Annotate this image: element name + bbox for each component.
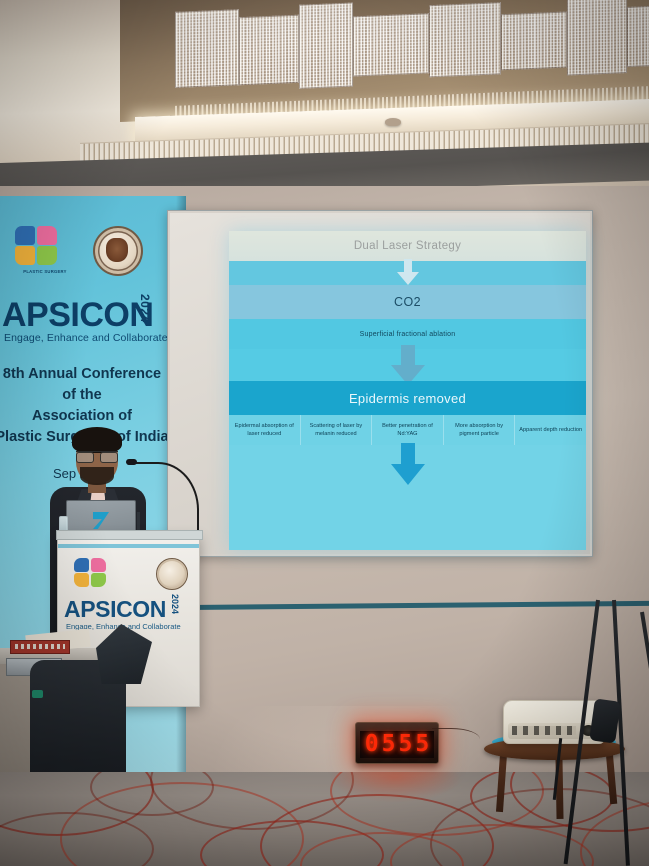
glasses-icon: [76, 451, 118, 461]
podium-association-seal-icon: [156, 558, 188, 590]
slide-outcome-column: Apparent depth reduction: [515, 415, 586, 445]
conference-hall-photo: PLASTIC SURGERY APSICON 2024 Engage, Enh…: [0, 0, 649, 866]
timer-digit: 5: [415, 733, 429, 756]
banner-title: APSICON: [2, 296, 186, 335]
slide-superficial-label: Superficial fractional ablation: [360, 331, 456, 338]
slide-outcome-column: Better penetration of Nd:YAG: [372, 415, 444, 445]
chandelier-crystal-panel: [501, 12, 567, 71]
banner-subtitle-line: Association of: [0, 406, 182, 427]
projection-screen: Dual Laser Strategy CO2 Superficial frac…: [167, 210, 593, 557]
banner-year: 2024: [138, 294, 152, 323]
carpet-floor: [0, 772, 649, 866]
slide-title-band: Dual Laser Strategy: [229, 231, 586, 261]
slide-epidermis-label: Epidermis removed: [349, 391, 466, 406]
chandelier-crystal-panel: [239, 15, 299, 86]
podium-logo-group: [70, 558, 190, 594]
chandelier-crystal-panel: [353, 13, 429, 76]
speaker-hair: [72, 427, 122, 453]
timer-digit: 5: [399, 733, 413, 756]
association-seal-icon: [93, 226, 143, 276]
arrow-down-icon-1: [397, 259, 419, 285]
timer-led-face: 0555: [360, 731, 434, 758]
arrow-down-icon-2: [391, 345, 425, 385]
podium-plastic-surgery-logo-icon: [74, 558, 108, 588]
laptop-brand-logo-icon: [93, 512, 109, 529]
banner-subtitle-line: of the: [0, 385, 182, 406]
slide-co2-label: CO2: [394, 295, 421, 309]
slide-outcome-column: Scattering of laser by melanin reduced: [301, 415, 373, 445]
countdown-timer-display: 0555: [355, 722, 439, 764]
slide-band-co2: CO2: [229, 285, 586, 319]
projector-ports: [512, 726, 576, 735]
timer-floor-glow: [330, 772, 460, 802]
cable-connector: [32, 690, 43, 698]
podium-top-surface: [56, 530, 203, 540]
slide-outcome-column: More absorption by pigment particle: [444, 415, 516, 445]
speaker-beard: [80, 467, 114, 485]
projected-slide: Dual Laser Strategy CO2 Superficial frac…: [229, 231, 586, 550]
chandelier-crystal-panel: [627, 6, 649, 67]
timer-digit: 5: [382, 733, 396, 756]
chandelier-crystal-panel: [299, 2, 353, 88]
chandelier-crystal-panel: [429, 2, 501, 77]
slide-outcome-columns: Epidermal absorption of laser reducedSca…: [229, 415, 586, 445]
timer-digit: 0: [365, 733, 379, 756]
slide-band-epidermis: Epidermis removed: [229, 381, 586, 415]
arrow-down-icon-3: [391, 443, 425, 485]
audio-mixer: [10, 640, 70, 654]
slide-title: Dual Laser Strategy: [354, 240, 461, 252]
banner-subtitle-line: 8th Annual Conference: [0, 364, 182, 385]
plastic-surgery-logo-icon: PLASTIC SURGERY: [14, 226, 60, 266]
smoke-detector-icon: [385, 118, 401, 126]
podium-accent-band: [58, 544, 199, 548]
chandelier-crystal-panel: [567, 0, 627, 76]
logo-caption: PLASTIC SURGERY: [16, 269, 74, 274]
banner-tagline: Engage, Enhance and Collaborate: [4, 332, 184, 344]
podium-year: 2024: [170, 594, 180, 614]
chandelier-crystal-panel: [175, 9, 239, 88]
banner-logo-group: PLASTIC SURGERY: [8, 226, 178, 282]
slide-outcome-column: Epidermal absorption of laser reduced: [229, 415, 301, 445]
microphone-icon: [126, 459, 137, 465]
